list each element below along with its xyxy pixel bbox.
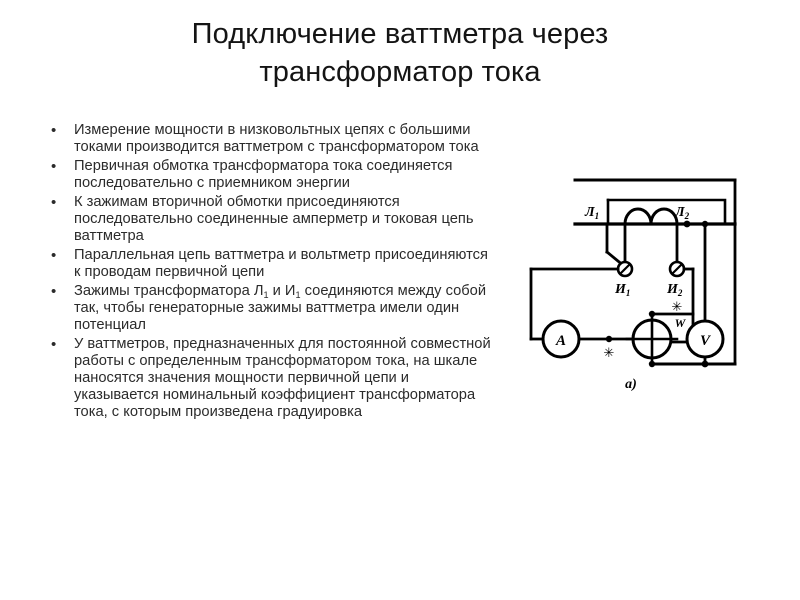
bullet-list: • Измерение мощности в низковольтных цеп… [44,122,496,423]
list-item-text: Параллельная цепь ваттметра и вольтметр … [74,247,488,280]
junction-dot-wattmeter-top [649,311,655,317]
bullet-marker-icon: • [51,283,56,300]
bullet-marker-icon: • [51,247,56,264]
junction-dot-bottom-left [649,361,655,367]
list-item: • У ваттметров, предназначенных для пост… [44,336,496,421]
list-item-text-mid: и И [269,283,296,299]
list-item-terminals: • Зажимы трансформатора Л1 и И1 соединяю… [44,283,496,334]
list-item: • К зажимам вторичной обмотки присоединя… [44,194,496,245]
list-item-text: Измерение мощности в низковольтных цепях… [74,122,479,155]
list-item-text: К зажимам вторичной обмотки присоединяют… [74,194,473,244]
list-item: • Параллельная цепь ваттметра и вольтмет… [44,247,496,281]
list-item-text: Первичная обмотка трансформатора тока со… [74,158,452,191]
transformer-coil-arc-2 [651,209,677,224]
junction-dot-voltage-feed [702,221,708,227]
page-title-line-2: трансформатор тока [60,54,740,92]
bullet-marker-icon: • [51,336,56,353]
list-item: • Первичная обмотка трансформатора тока … [44,158,496,192]
page-title-line-1: Подключение ваттметра через [60,16,740,54]
ammeter-label: A [555,333,566,349]
polarity-mark-i2-icon: ✳ [672,300,683,315]
page-title: Подключение ваттметра через трансформато… [60,16,740,91]
wattmeter-label: W [675,316,687,330]
list-item-text-pre: Зажимы трансформатора Л [74,283,263,299]
bullet-marker-icon: • [51,194,56,211]
transformer-coil-arc-1 [625,209,651,224]
polarity-mark-wattmeter-icon: ✳ [604,346,615,361]
junction-dot-l2 [684,221,691,228]
junction-dot-ammeter-branch [606,336,612,342]
circuit-diagram-figure: Л1 Л2 И1 И2 A V W а) ✳ ✳ [497,166,745,394]
label-l2: Л2 [674,205,690,221]
figure-caption: а) [625,377,637,392]
list-item: • Измерение мощности в низковольтных цеп… [44,122,496,156]
bullet-marker-icon: • [51,158,56,175]
bullet-marker-icon: • [51,122,56,139]
list-item-text: У ваттметров, предназначенных для постоя… [74,336,491,420]
label-l1: Л1 [584,205,599,221]
label-i1: И1 [614,282,630,298]
label-i2: И2 [666,282,683,298]
circuit-diagram-svg: Л1 Л2 И1 И2 A V W а) ✳ ✳ [497,166,745,394]
